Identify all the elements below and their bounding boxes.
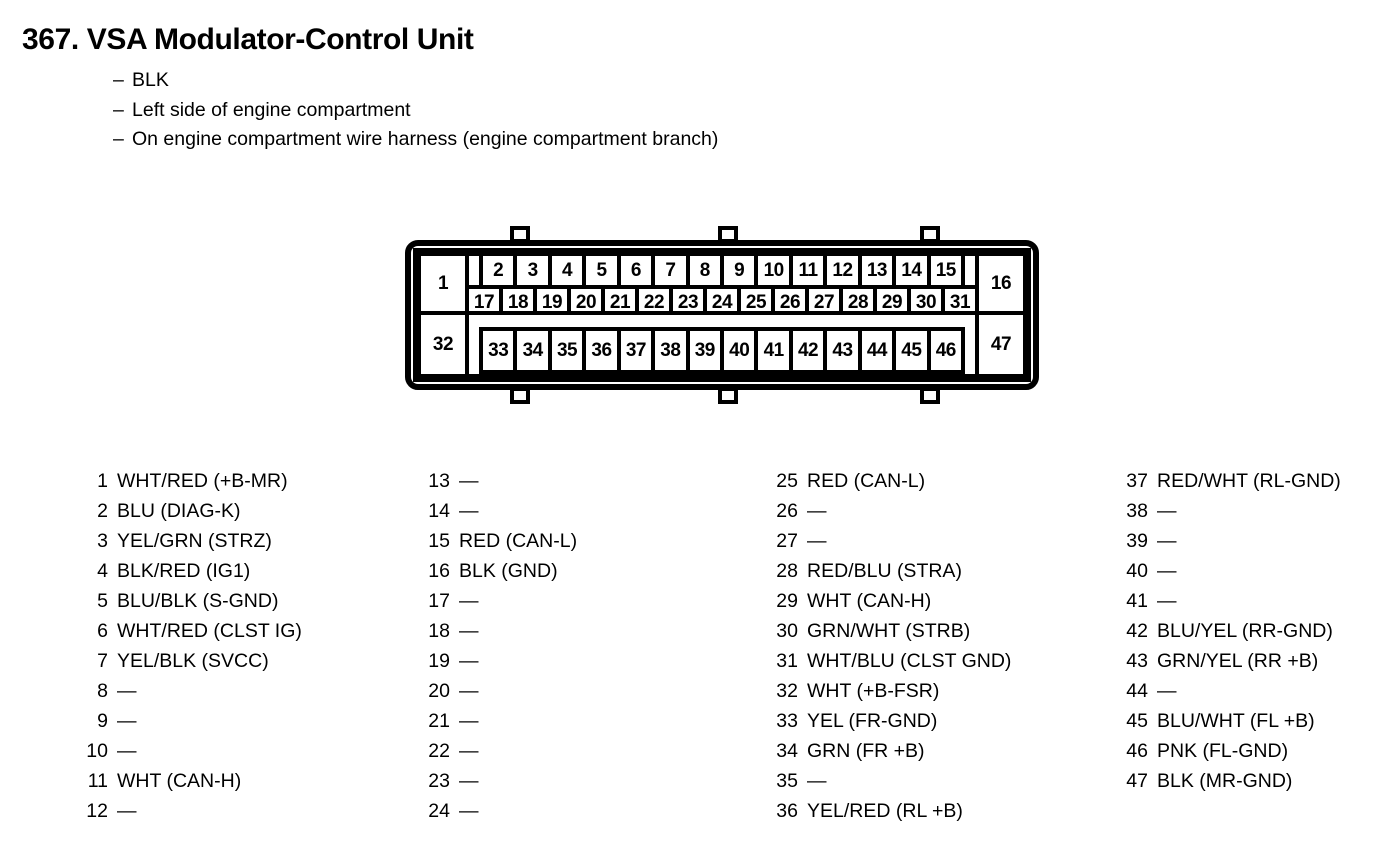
pin-label: — (108, 680, 137, 703)
pin-row: 15RED (CAN-L) (420, 530, 577, 560)
pin-label: — (1148, 560, 1177, 583)
connector-pin-11: 11 (789, 252, 827, 289)
pin-label: — (450, 470, 479, 493)
pin-number: 9 (78, 710, 108, 733)
connector-pin-10: 10 (754, 252, 792, 289)
pin-row: 34GRN (FR +B) (768, 740, 1011, 770)
pin-row: 23— (420, 770, 577, 800)
pin-label: YEL (FR-GND) (798, 710, 937, 733)
pin-list-column: 13—14—15RED (CAN-L)16BLK (GND)17—18—19—2… (420, 470, 577, 830)
pin-row: 32WHT (+B-FSR) (768, 680, 1011, 710)
pin-number: 46 (1118, 740, 1148, 763)
subtitle-list: – BLK – Left side of engine compartment … (22, 66, 1362, 155)
connector-mount-tab-bottom (718, 387, 738, 404)
connector-pin-37: 37 (617, 327, 655, 374)
connector-pin-14: 14 (892, 252, 930, 289)
pin-row: 44— (1118, 680, 1341, 710)
connector-pin-46: 46 (927, 327, 965, 374)
pin-assignment-list: 1WHT/RED (+B-MR)2BLU (DIAG-K)3YEL/GRN (S… (0, 470, 1392, 830)
pin-number: 4 (78, 560, 108, 583)
connector-pin-4: 4 (548, 252, 586, 289)
pin-label: YEL/RED (RL +B) (798, 800, 963, 823)
pin-number: 28 (768, 560, 798, 583)
header-block: 367. VSA Modulator-Control Unit – BLK – … (22, 22, 1362, 155)
page-title: 367. VSA Modulator-Control Unit (22, 22, 1362, 58)
pin-number: 31 (768, 650, 798, 673)
pin-label: — (108, 800, 137, 823)
pin-label: WHT (CAN-H) (798, 590, 931, 613)
subtitle-text: Left side of engine compartment (132, 96, 411, 126)
pin-label: — (1148, 680, 1177, 703)
pin-row: 17— (420, 590, 577, 620)
pin-number: 6 (78, 620, 108, 643)
pin-label: GRN/YEL (RR +B) (1148, 650, 1318, 673)
pin-row: 42BLU/YEL (RR-GND) (1118, 620, 1341, 650)
pin-number: 18 (420, 620, 450, 643)
pin-number: 44 (1118, 680, 1148, 703)
pin-number: 2 (78, 500, 108, 523)
pin-row: 19— (420, 650, 577, 680)
connector-pin-6: 6 (617, 252, 655, 289)
pin-number: 1 (78, 470, 108, 493)
subtitle-text: BLK (132, 66, 169, 96)
pin-row: 8— (78, 680, 302, 710)
pin-row: 25RED (CAN-L) (768, 470, 1011, 500)
pin-label: BLK (MR-GND) (1148, 770, 1292, 793)
pin-label: — (108, 740, 137, 763)
pin-number: 27 (768, 530, 798, 553)
pin-label: — (798, 500, 827, 523)
pin-number: 7 (78, 650, 108, 673)
connector-pin-38: 38 (651, 327, 689, 374)
pin-label: BLU/BLK (S-GND) (108, 590, 278, 613)
pin-number: 45 (1118, 710, 1148, 733)
pin-label: — (1148, 500, 1177, 523)
pin-row: 31WHT/BLU (CLST GND) (768, 650, 1011, 680)
pin-row: 40— (1118, 560, 1341, 590)
pin-number: 37 (1118, 470, 1148, 493)
pin-number: 26 (768, 500, 798, 523)
pin-row: 38— (1118, 500, 1341, 530)
pin-row: 20— (420, 680, 577, 710)
pin-number: 39 (1118, 530, 1148, 553)
connector-pin-5: 5 (582, 252, 620, 289)
pin-number: 15 (420, 530, 450, 553)
pin-row: 9— (78, 710, 302, 740)
dash-bullet-icon: – (113, 125, 132, 155)
connector-pin-45: 45 (892, 327, 930, 374)
pin-number: 23 (420, 770, 450, 793)
pin-label: — (450, 710, 479, 733)
pin-label: — (450, 770, 479, 793)
pin-number: 47 (1118, 770, 1148, 793)
pin-row: 43GRN/YEL (RR +B) (1118, 650, 1341, 680)
pin-list-column: 1WHT/RED (+B-MR)2BLU (DIAG-K)3YEL/GRN (S… (78, 470, 302, 830)
pin-label: BLU/WHT (FL +B) (1148, 710, 1315, 733)
pin-label: — (450, 680, 479, 703)
pin-number: 41 (1118, 590, 1148, 613)
connector-pin-15: 15 (927, 252, 965, 289)
pin-label: — (1148, 530, 1177, 553)
pin-label: — (108, 710, 137, 733)
connector-pin-16: 16 (975, 252, 1027, 315)
pin-row: 26— (768, 500, 1011, 530)
connector-pin-47: 47 (975, 311, 1027, 378)
connector-diagram: 1321647234567891011121314151718192021222… (402, 226, 1042, 412)
pin-row: 30GRN/WHT (STRB) (768, 620, 1011, 650)
connector-pin-43: 43 (823, 327, 861, 374)
subtitle-item: – BLK (113, 66, 1362, 96)
pin-row: 2BLU (DIAG-K) (78, 500, 302, 530)
connector-pin-12: 12 (823, 252, 861, 289)
connector-pin-3: 3 (513, 252, 551, 289)
pin-label: — (798, 530, 827, 553)
pin-row: 3YEL/GRN (STRZ) (78, 530, 302, 560)
connector-pin-7: 7 (651, 252, 689, 289)
pin-label: BLK (GND) (450, 560, 558, 583)
pin-row: 39— (1118, 530, 1341, 560)
pin-number: 29 (768, 590, 798, 613)
pin-number: 43 (1118, 650, 1148, 673)
pin-label: — (450, 500, 479, 523)
pin-label: — (798, 770, 827, 793)
connector-pin-44: 44 (858, 327, 896, 374)
pin-number: 14 (420, 500, 450, 523)
pin-label: YEL/BLK (SVCC) (108, 650, 269, 673)
pin-number: 30 (768, 620, 798, 643)
pin-label: PNK (FL-GND) (1148, 740, 1288, 763)
pin-number: 20 (420, 680, 450, 703)
connector-pin-34: 34 (513, 327, 551, 374)
connector-pin-9: 9 (720, 252, 758, 289)
pin-label: YEL/GRN (STRZ) (108, 530, 272, 553)
pin-row: 14— (420, 500, 577, 530)
pin-label: BLU/YEL (RR-GND) (1148, 620, 1333, 643)
pin-number: 25 (768, 470, 798, 493)
pin-number: 34 (768, 740, 798, 763)
pin-list-column: 25RED (CAN-L)26—27—28RED/BLU (STRA)29WHT… (768, 470, 1011, 830)
pin-number: 5 (78, 590, 108, 613)
pin-row: 13— (420, 470, 577, 500)
connector-pin-40: 40 (720, 327, 758, 374)
pin-number: 13 (420, 470, 450, 493)
pin-number: 22 (420, 740, 450, 763)
pin-list-column: 37RED/WHT (RL-GND)38—39—40—41—42BLU/YEL … (1118, 470, 1341, 800)
pin-label: RED/WHT (RL-GND) (1148, 470, 1341, 493)
pin-row: 29WHT (CAN-H) (768, 590, 1011, 620)
connector-blank-cavity (961, 252, 979, 289)
pin-row: 6WHT/RED (CLST IG) (78, 620, 302, 650)
connector-pin-8: 8 (686, 252, 724, 289)
pin-number: 16 (420, 560, 450, 583)
connector-pin-13: 13 (858, 252, 896, 289)
pin-row: 11WHT (CAN-H) (78, 770, 302, 800)
connector-mount-tab-bottom (920, 387, 940, 404)
pin-row: 18— (420, 620, 577, 650)
pin-row: 46PNK (FL-GND) (1118, 740, 1341, 770)
pin-label: — (1148, 590, 1177, 613)
dash-bullet-icon: – (113, 96, 132, 126)
connector-pin-42: 42 (789, 327, 827, 374)
pin-label: — (450, 740, 479, 763)
pin-label: — (450, 800, 479, 823)
pin-row: 16BLK (GND) (420, 560, 577, 590)
pin-row: 41— (1118, 590, 1341, 620)
pin-row: 12— (78, 800, 302, 830)
pin-row: 28RED/BLU (STRA) (768, 560, 1011, 590)
subtitle-text: On engine compartment wire harness (engi… (132, 125, 718, 155)
pin-number: 38 (1118, 500, 1148, 523)
pin-row: 5BLU/BLK (S-GND) (78, 590, 302, 620)
pin-label: GRN (FR +B) (798, 740, 925, 763)
pin-label: BLU (DIAG-K) (108, 500, 241, 523)
pin-label: WHT/RED (+B-MR) (108, 470, 288, 493)
connector-mount-tab-bottom (510, 387, 530, 404)
pin-row: 33YEL (FR-GND) (768, 710, 1011, 740)
pin-row: 1WHT/RED (+B-MR) (78, 470, 302, 500)
pin-number: 10 (78, 740, 108, 763)
connector-pin-33: 33 (479, 327, 517, 374)
pin-label: — (450, 650, 479, 673)
pin-label: — (450, 590, 479, 613)
pin-row: 4BLK/RED (IG1) (78, 560, 302, 590)
pin-row: 36YEL/RED (RL +B) (768, 800, 1011, 830)
connector-pin-36: 36 (582, 327, 620, 374)
pin-label: BLK/RED (IG1) (108, 560, 250, 583)
connector-pin-41: 41 (754, 327, 792, 374)
pin-label: RED (CAN-L) (450, 530, 577, 553)
pin-row: 7YEL/BLK (SVCC) (78, 650, 302, 680)
pin-row: 10— (78, 740, 302, 770)
pin-number: 35 (768, 770, 798, 793)
pin-number: 3 (78, 530, 108, 553)
pin-row: 24— (420, 800, 577, 830)
connector-pin-39: 39 (686, 327, 724, 374)
pin-label: RED (CAN-L) (798, 470, 925, 493)
pin-label: GRN/WHT (STRB) (798, 620, 970, 643)
pin-number: 11 (78, 770, 108, 793)
pin-label: WHT/BLU (CLST GND) (798, 650, 1011, 673)
pin-number: 40 (1118, 560, 1148, 583)
pin-number: 32 (768, 680, 798, 703)
connector-pin-2: 2 (479, 252, 517, 289)
subtitle-item: – Left side of engine compartment (113, 96, 1362, 126)
subtitle-item: – On engine compartment wire harness (en… (113, 125, 1362, 155)
pin-number: 33 (768, 710, 798, 733)
pin-number: 42 (1118, 620, 1148, 643)
pin-label: WHT/RED (CLST IG) (108, 620, 302, 643)
pin-label: RED/BLU (STRA) (798, 560, 962, 583)
connector-pin-35: 35 (548, 327, 586, 374)
pin-number: 12 (78, 800, 108, 823)
pin-row: 35— (768, 770, 1011, 800)
connector-pin-1: 1 (417, 252, 469, 315)
pin-number: 24 (420, 800, 450, 823)
pin-number: 36 (768, 800, 798, 823)
connector-pin-32: 32 (417, 311, 469, 378)
pin-row: 21— (420, 710, 577, 740)
pin-number: 21 (420, 710, 450, 733)
pin-row: 45BLU/WHT (FL +B) (1118, 710, 1341, 740)
pin-label: WHT (+B-FSR) (798, 680, 939, 703)
pin-label: WHT (CAN-H) (108, 770, 241, 793)
pin-label: — (450, 620, 479, 643)
pin-number: 19 (420, 650, 450, 673)
pin-row: 37RED/WHT (RL-GND) (1118, 470, 1341, 500)
pin-row: 47BLK (MR-GND) (1118, 770, 1341, 800)
dash-bullet-icon: – (113, 66, 132, 96)
pin-row: 22— (420, 740, 577, 770)
pin-row: 27— (768, 530, 1011, 560)
pin-number: 17 (420, 590, 450, 613)
pin-number: 8 (78, 680, 108, 703)
